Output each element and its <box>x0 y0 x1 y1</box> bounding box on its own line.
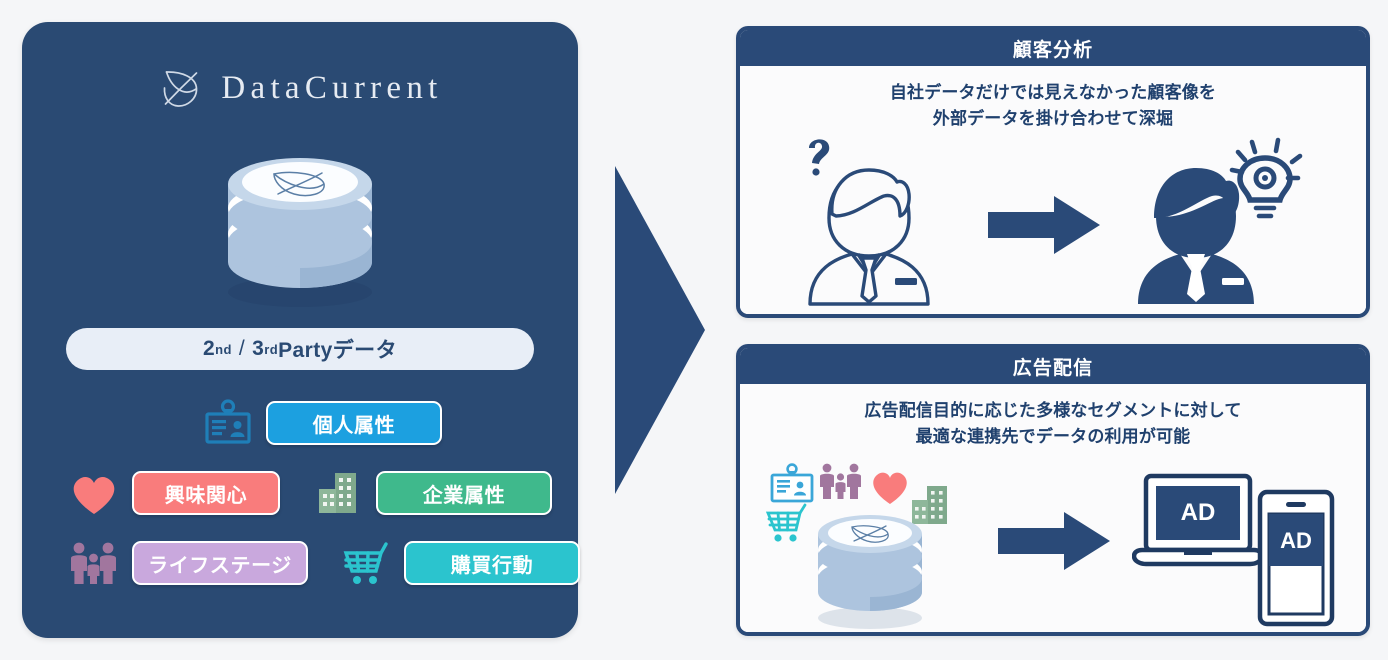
card-title: 広告配信 <box>740 348 1366 384</box>
datacurrent-leaf-logo-icon <box>157 64 205 112</box>
party-data-pill: 2nd/3rd Partyデータ <box>66 328 534 370</box>
data-source-panel: DataCurrent 2nd/ <box>22 22 578 638</box>
phone-ad-label: AD <box>1280 528 1312 553</box>
family-icon <box>66 538 122 588</box>
tag-interests[interactable]: 興味関心 <box>132 471 280 515</box>
tag-row: 興味関心 <box>22 464 578 522</box>
card-illustration <box>740 134 1366 312</box>
card-description-line: 自社データだけでは見えなかった顧客像を <box>740 80 1366 106</box>
card-body: 自社データだけでは見えなかった顧客像を 外部データを掛け合わせて深堀 <box>740 66 1366 314</box>
heart-icon <box>66 468 122 518</box>
tag-row: 個人属性 <box>22 394 578 452</box>
card-description: 自社データだけでは見えなかった顧客像を 外部データを掛け合わせて深堀 <box>740 66 1366 133</box>
card-body: 広告配信目的に応じた多様なセグメントに対して 最適な連携先でデータの利用が可能 <box>740 384 1366 632</box>
building-icon <box>310 468 366 518</box>
brand-name: DataCurrent <box>221 70 442 107</box>
pill-suffix: Partyデータ <box>278 334 397 364</box>
pill-prefix-num: 2 <box>203 337 215 361</box>
pill-prefix-sup: nd <box>215 342 232 357</box>
card-title: 顧客分析 <box>740 30 1366 66</box>
tag-row: ライフステージ <box>22 534 578 592</box>
pill-second-sup: rd <box>264 342 278 357</box>
card-description-line: 広告配信目的に応じた多様なセグメントに対して <box>740 398 1366 424</box>
tag-company-attributes[interactable]: 企業属性 <box>376 471 552 515</box>
tag-label: ライフステージ <box>148 549 292 578</box>
card-illustration: AD AD <box>740 452 1366 630</box>
infographic-root: DataCurrent 2nd/ <box>0 0 1388 660</box>
attribute-tag-list: 個人属性 興味関心 <box>22 394 578 604</box>
card-description: 広告配信目的に応じた多様なセグメントに対して 最適な連携先でデータの利用が可能 <box>740 384 1366 451</box>
card-ad-delivery: 広告配信 広告配信目的に応じた多様なセグメントに対して 最適な連携先でデータの利… <box>736 344 1370 636</box>
tag-label: 企業属性 <box>423 479 505 508</box>
tag-label: 興味関心 <box>165 479 247 508</box>
tag-personal-attributes[interactable]: 個人属性 <box>266 401 442 445</box>
tag-label: 購買行動 <box>451 549 533 578</box>
tag-purchase-behavior[interactable]: 購買行動 <box>404 541 580 585</box>
card-customer-analysis: 顧客分析 自社データだけでは見えなかった顧客像を 外部データを掛け合わせて深堀 <box>736 26 1370 318</box>
card-description-line: 外部データを掛け合わせて深堀 <box>740 106 1366 132</box>
tag-life-stage[interactable]: ライフステージ <box>132 541 308 585</box>
brand-lockup: DataCurrent <box>22 62 578 114</box>
pill-slash: / <box>239 337 245 361</box>
shopping-cart-icon <box>338 538 394 588</box>
id-card-icon <box>200 398 256 448</box>
pill-second-num: 3 <box>252 337 264 361</box>
card-description-line: 最適な連携先でデータの利用が可能 <box>740 424 1366 450</box>
tag-label: 個人属性 <box>313 409 395 438</box>
laptop-ad-label: AD <box>1181 499 1216 526</box>
